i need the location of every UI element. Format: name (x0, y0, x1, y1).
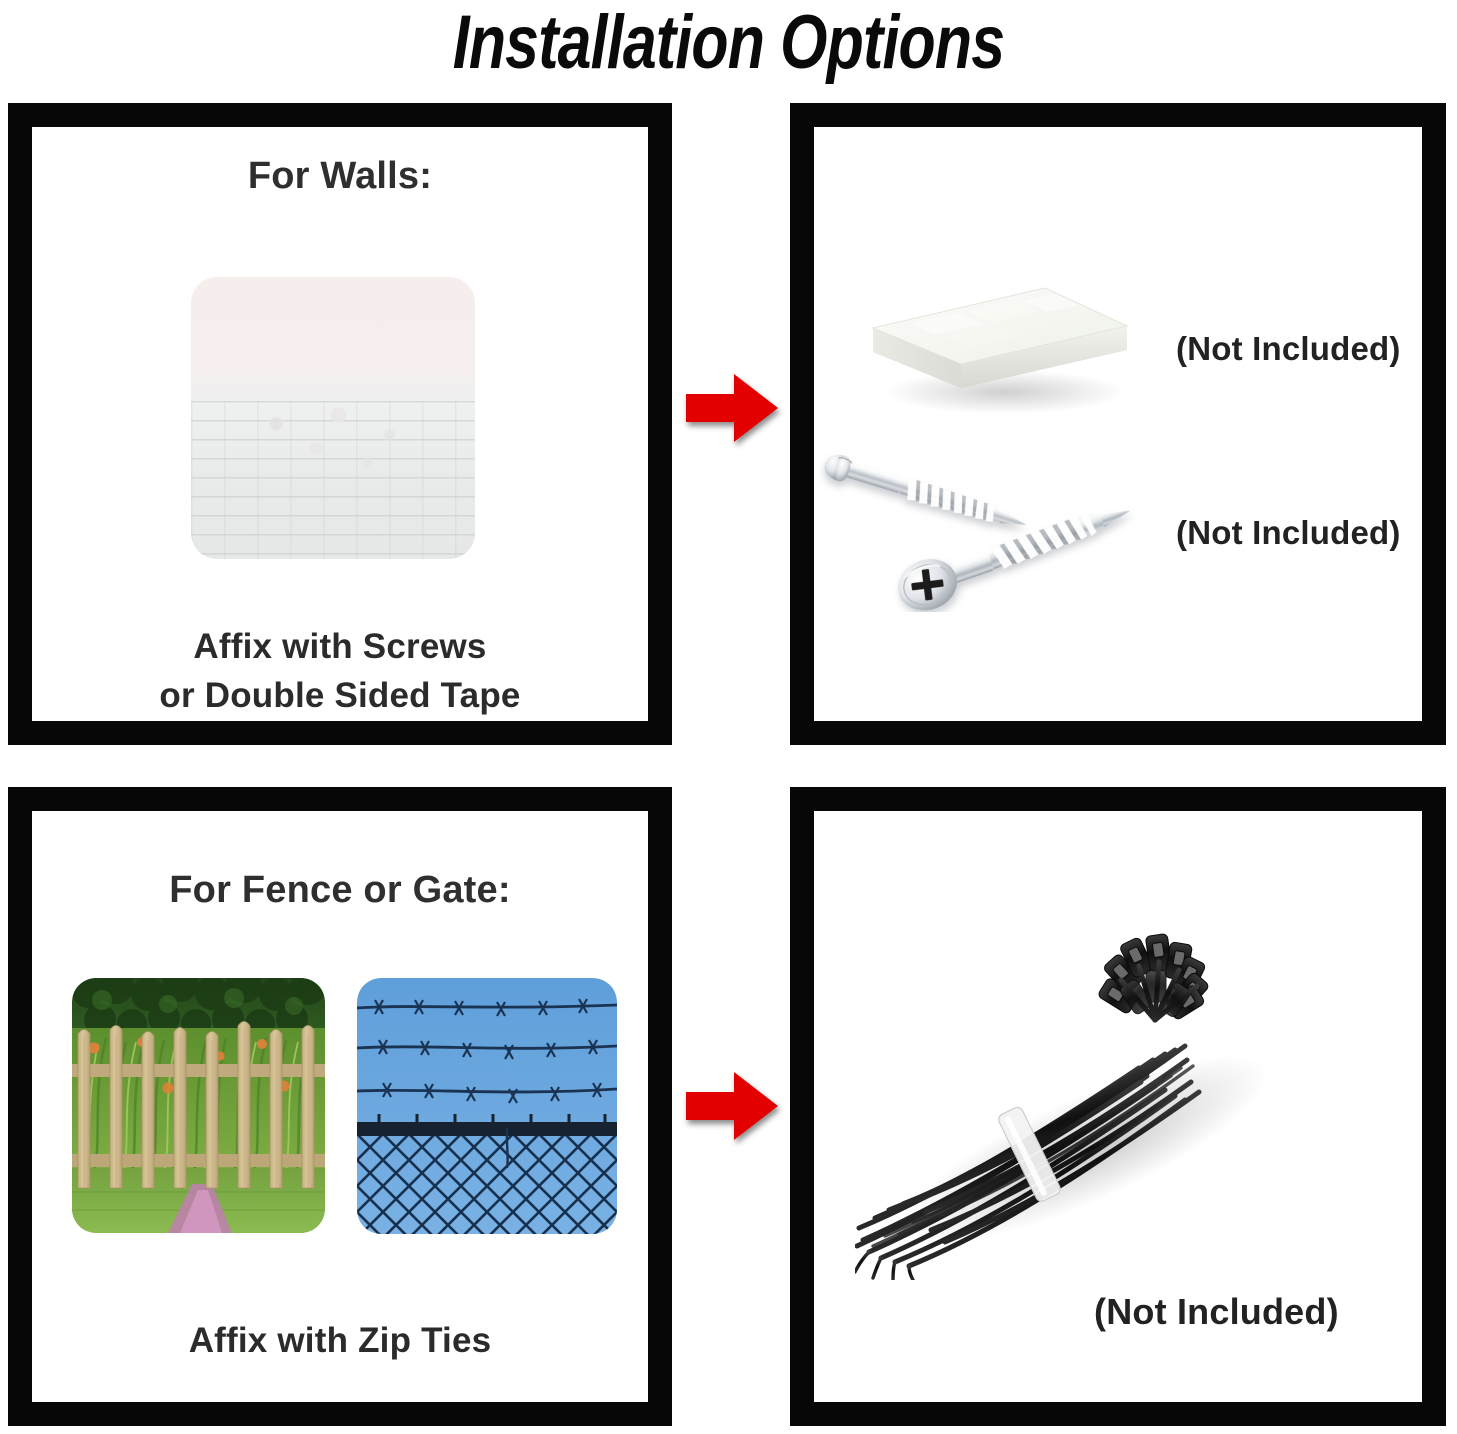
panel-for-fence-heading: For Fence or Gate: (32, 869, 648, 912)
screws-not-included-label: (Not Included) (1176, 514, 1401, 552)
page-title: Installation Options (146, 0, 1312, 88)
panel-for-fence-caption: Affix with Zip Ties (32, 1316, 648, 1365)
panel-for-walls-heading: For Walls: (32, 155, 648, 198)
zip-ties-bundle-image (855, 900, 1315, 1280)
zipties-not-included-label: (Not Included) (1094, 1291, 1339, 1333)
wooden-picket-fence-photo (72, 978, 325, 1233)
red-right-arrow-bottom (686, 1070, 778, 1142)
red-right-arrow-top (686, 372, 778, 444)
panel-for-walls-inner: For Walls: Affix with Screws or Double S… (32, 127, 648, 721)
white-brick-wall-photo (191, 277, 475, 559)
brick-speckle-texture (191, 277, 475, 559)
panel-for-walls: For Walls: Affix with Screws or Double S… (8, 103, 672, 745)
panel-for-walls-caption-line1: Affix with Screws (32, 622, 648, 671)
panel-wall-hardware-inner (814, 127, 1422, 721)
wood-screws-image (818, 436, 1158, 612)
tape-not-included-label: (Not Included) (1176, 330, 1401, 368)
barbed-wire-chain-link-photo (357, 978, 617, 1234)
panel-for-walls-caption-line2: or Double Sided Tape (32, 671, 648, 720)
double-sided-tape-stack-image (855, 232, 1151, 418)
panel-wall-hardware (790, 103, 1446, 745)
